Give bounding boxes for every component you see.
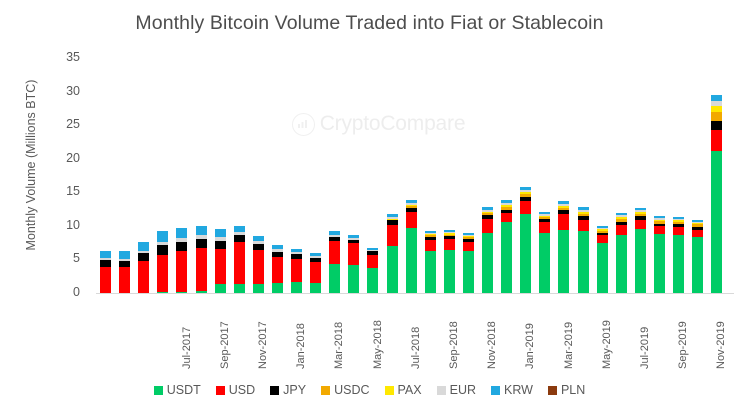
plot-area [96, 58, 733, 293]
bar-segment-usdt [482, 233, 493, 293]
legend-item-usdc[interactable]: USDC [321, 383, 369, 397]
bar-jan-2020[interactable] [673, 217, 684, 293]
y-axis-tick: 25 [42, 118, 80, 131]
legend-swatch-icon [385, 386, 394, 395]
bar-segment-usd [234, 242, 245, 284]
bar-apr-2018[interactable] [272, 245, 283, 293]
bar-nov-2017[interactable] [176, 228, 187, 293]
bar-segment-krw [196, 226, 207, 235]
y-axis-label: Monthly Volume (Millions BTC) [24, 40, 38, 290]
bar-may-2018[interactable] [291, 249, 302, 293]
x-axis-tick: Jan-2018 [295, 299, 307, 369]
bar-oct-2019[interactable] [616, 213, 627, 293]
bar-aug-2019[interactable] [578, 207, 589, 293]
x-axis-tick: Nov-2019 [715, 299, 727, 369]
bar-segment-usd [310, 262, 321, 283]
chart-container: Monthly Bitcoin Volume Traded into Fiat … [0, 0, 739, 418]
legend-swatch-icon [491, 386, 500, 395]
bar-aug-2017[interactable] [119, 251, 130, 293]
legend-swatch-icon [216, 386, 225, 395]
bar-segment-usdt [329, 264, 340, 293]
bar-mar-2019[interactable] [482, 207, 493, 293]
legend-label: USDT [167, 383, 201, 397]
y-axis-tick: 15 [42, 185, 80, 198]
bar-segment-usdt [176, 292, 187, 293]
legend-swatch-icon [321, 386, 330, 395]
bar-segment-usd [387, 225, 398, 246]
x-axis-tick: Nov-2018 [486, 299, 498, 369]
bar-segment-usdt [387, 246, 398, 293]
bar-segment-usdt [157, 292, 168, 293]
bar-sep-2017[interactable] [138, 242, 149, 293]
legend-item-jpy[interactable]: JPY [270, 383, 306, 397]
bar-segment-usd [367, 255, 378, 268]
legend-swatch-icon [154, 386, 163, 395]
bar-segment-usd [558, 214, 569, 229]
bar-segment-usdt [692, 237, 703, 293]
bar-segment-usd [463, 242, 474, 251]
legend-label: PLN [561, 383, 585, 397]
legend-item-usd[interactable]: USD [216, 383, 255, 397]
bar-segment-usd [119, 267, 130, 293]
bar-segment-usd [597, 235, 608, 243]
bar-segment-jpy [196, 239, 207, 248]
bar-nov-2019[interactable] [635, 208, 646, 293]
bar-segment-usdt [215, 284, 226, 293]
legend-label: JPY [283, 383, 306, 397]
legend-item-pln[interactable]: PLN [548, 383, 585, 397]
bar-sep-2019[interactable] [597, 226, 608, 293]
bar-segment-usdt [711, 151, 722, 293]
bar-segment-usd [578, 220, 589, 231]
y-axis-tick: 20 [42, 152, 80, 165]
legend-label: USDC [334, 383, 369, 397]
x-axis-tick: Sep-2018 [448, 299, 460, 369]
bar-aug-2018[interactable] [348, 235, 359, 293]
bar-segment-usdt [616, 235, 627, 293]
bar-mar-2020[interactable] [711, 95, 722, 293]
legend-label: PAX [398, 383, 422, 397]
legend-item-eur[interactable]: EUR [437, 383, 476, 397]
x-axis-tick: Jan-2019 [524, 299, 536, 369]
bar-segment-usd [692, 230, 703, 237]
bar-segment-usdt [444, 250, 455, 293]
bar-jul-2017[interactable] [100, 251, 111, 293]
bar-segment-usdt [463, 251, 474, 293]
bar-segment-usdt [654, 234, 665, 293]
legend-item-usdt[interactable]: USDT [154, 383, 201, 397]
bar-jul-2019[interactable] [558, 201, 569, 293]
x-axis-tick: Sep-2017 [219, 299, 231, 369]
bar-segment-usdc [711, 112, 722, 121]
bar-segment-usd [501, 213, 512, 222]
legend-swatch-icon [437, 386, 446, 395]
bar-jul-2018[interactable] [329, 231, 340, 293]
legend-item-pax[interactable]: PAX [385, 383, 422, 397]
bar-segment-usdt [406, 228, 417, 292]
bar-mar-2018[interactable] [253, 236, 264, 293]
bar-oct-2018[interactable] [387, 214, 398, 293]
chart-legend: USDTUSDJPYUSDCPAXEURKRWPLN [0, 383, 739, 397]
x-axis-tick: Nov-2017 [257, 299, 269, 369]
bar-segment-jpy [711, 121, 722, 130]
bar-segment-usdt [367, 268, 378, 293]
x-axis-line [96, 293, 734, 294]
bar-segment-jpy [176, 242, 187, 251]
bar-dec-2019[interactable] [654, 216, 665, 293]
bar-segment-krw [138, 242, 149, 251]
bar-segment-usd [272, 257, 283, 283]
bar-segment-usdt [196, 291, 207, 293]
legend-swatch-icon [548, 386, 557, 395]
bar-segment-usd [711, 130, 722, 150]
bar-segment-usd [520, 201, 531, 214]
bar-jan-2018[interactable] [215, 229, 226, 293]
bar-segment-krw [157, 231, 168, 242]
bar-segment-usd [329, 241, 340, 265]
y-axis-tick: 35 [42, 51, 80, 64]
x-axis-tick: Jul-2019 [639, 299, 651, 369]
bar-apr-2019[interactable] [501, 200, 512, 293]
bar-segment-usdt [597, 243, 608, 293]
bar-sep-2018[interactable] [367, 248, 378, 293]
legend-swatch-icon [270, 386, 279, 395]
legend-item-krw[interactable]: KRW [491, 383, 533, 397]
bar-segment-usd [215, 249, 226, 285]
bar-segment-krw [119, 251, 130, 259]
bar-segment-krw [215, 229, 226, 237]
x-axis-tick: Mar-2019 [563, 299, 575, 369]
bar-feb-2018[interactable] [234, 226, 245, 293]
bar-segment-usdt [348, 265, 359, 293]
y-axis-tick: 10 [42, 219, 80, 232]
bar-segment-usdt [520, 214, 531, 293]
bar-dec-2018[interactable] [425, 231, 436, 293]
x-axis-tick: May-2018 [372, 299, 384, 369]
bar-segment-usd [406, 212, 417, 229]
bar-segment-usd [482, 219, 493, 232]
bar-segment-usd [176, 251, 187, 291]
x-axis-tick: Jul-2018 [410, 299, 422, 369]
bar-segment-krw [176, 228, 187, 238]
bar-segment-usd [673, 227, 684, 234]
bar-segment-jpy [215, 241, 226, 248]
bar-segment-jpy [138, 253, 149, 261]
bar-segment-krw [100, 251, 111, 258]
x-axis-tick: Sep-2019 [677, 299, 689, 369]
bar-segment-usd [157, 255, 168, 292]
bar-segment-jpy [100, 260, 111, 267]
bar-segment-usd [444, 239, 455, 250]
bar-segment-usdt [578, 231, 589, 293]
bar-segment-usd [616, 225, 627, 234]
bar-segment-usd [100, 267, 111, 293]
bar-segment-usd [635, 220, 646, 229]
bar-segment-usdt [310, 283, 321, 293]
bar-segment-usd [654, 226, 665, 233]
bar-segment-usdt [291, 282, 302, 293]
legend-label: USD [229, 383, 255, 397]
chart-title: Monthly Bitcoin Volume Traded into Fiat … [0, 12, 739, 35]
bar-segment-usdt [425, 251, 436, 293]
bar-segment-usdt [272, 283, 283, 293]
bar-jun-2019[interactable] [539, 212, 550, 293]
y-axis-tick: 5 [42, 252, 80, 265]
bar-segment-usdt [501, 222, 512, 293]
bar-segment-usd [138, 261, 149, 293]
bar-feb-2019[interactable] [463, 233, 474, 293]
bar-feb-2020[interactable] [692, 220, 703, 293]
bar-segment-usdt [635, 229, 646, 293]
x-axis-tick: May-2019 [601, 299, 613, 369]
bar-may-2019[interactable] [520, 187, 531, 293]
bar-segment-usdt [234, 284, 245, 293]
bar-oct-2017[interactable] [157, 231, 168, 293]
y-axis-tick: 30 [42, 85, 80, 98]
x-axis-tick: Jul-2017 [181, 299, 193, 369]
bar-segment-jpy [234, 235, 245, 242]
bar-segment-usd [253, 250, 264, 284]
bar-segment-usdt [539, 233, 550, 293]
bar-segment-usd [291, 259, 302, 283]
bar-segment-jpy [157, 245, 168, 255]
x-axis-tick: Mar-2018 [333, 299, 345, 369]
bar-segment-usd [196, 248, 207, 291]
bar-segment-usdt [558, 230, 569, 293]
bar-dec-2017[interactable] [196, 226, 207, 293]
y-axis-tick: 0 [42, 286, 80, 299]
bar-segment-usd [425, 240, 436, 251]
bar-segment-usd [348, 243, 359, 264]
legend-label: EUR [450, 383, 476, 397]
legend-label: KRW [504, 383, 533, 397]
bar-jun-2018[interactable] [310, 253, 321, 293]
bar-segment-usd [539, 222, 550, 233]
bar-jan-2019[interactable] [444, 230, 455, 293]
bar-segment-usdt [253, 284, 264, 293]
bar-segment-usdt [673, 235, 684, 293]
bar-nov-2018[interactable] [406, 200, 417, 293]
